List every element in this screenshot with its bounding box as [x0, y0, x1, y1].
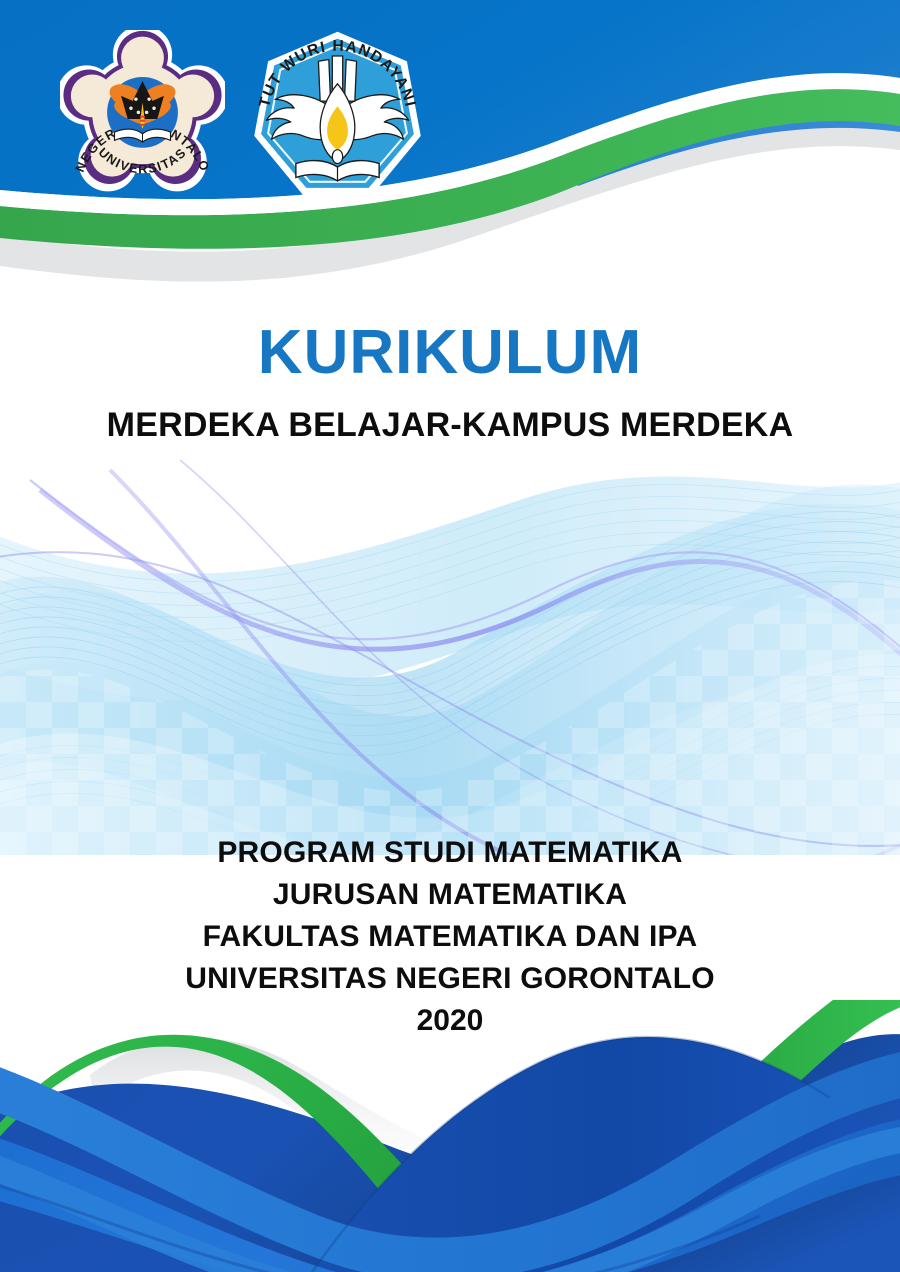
title-block: KURIKULUM MERDEKA BELAJAR-KAMPUS MERDEKA	[0, 322, 900, 442]
affiliation-block: PROGRAM STUDI MATEMATIKA JURUSAN MATEMAT…	[0, 832, 900, 1042]
affiliation-line-department: JURUSAN MATEMATIKA	[0, 874, 900, 916]
page-subtitle: MERDEKA BELAJAR-KAMPUS MERDEKA	[0, 408, 900, 442]
document-cover: NEGERI GORONTALO UNIVERSITAS	[0, 0, 900, 1272]
page-title: KURIKULUM	[0, 322, 900, 384]
affiliation-line-university: UNIVERSITAS NEGERI GORONTALO	[0, 958, 900, 1000]
tut-wuri-handayani-logo: TUT WURI HANDAYANI	[250, 30, 425, 200]
universitas-negeri-gorontalo-logo: NEGERI GORONTALO UNIVERSITAS	[60, 30, 225, 198]
affiliation-line-faculty: FAKULTAS MATEMATIKA DAN IPA	[0, 916, 900, 958]
logo-row: NEGERI GORONTALO UNIVERSITAS	[60, 30, 420, 200]
affiliation-line-program: PROGRAM STUDI MATEMATIKA	[0, 832, 900, 874]
publication-year: 2020	[0, 1000, 900, 1042]
